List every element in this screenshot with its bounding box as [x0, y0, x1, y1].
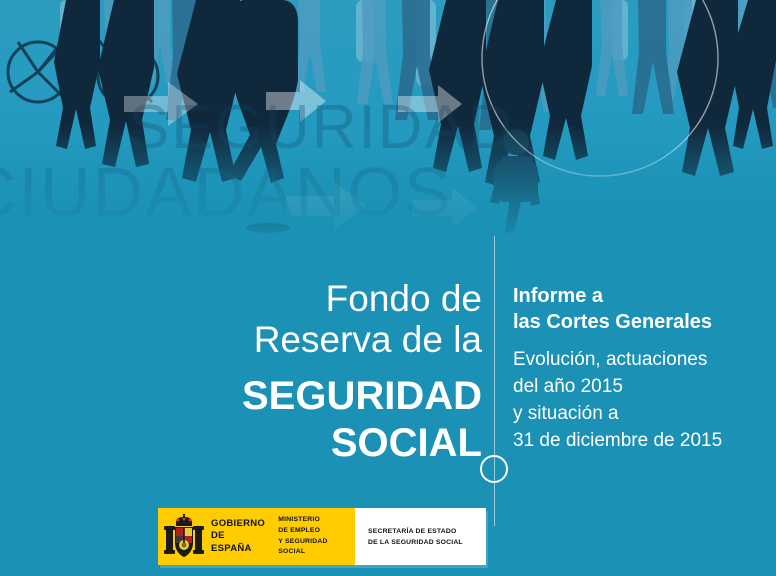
subtitle-body: Evolución, actuaciones del año 2015 y si… — [513, 347, 763, 455]
government-name-label: GOBIERNO DE ESPAÑA — [211, 518, 267, 554]
page-title-line1: Fondo de — [326, 278, 482, 319]
government-logo-block: GOBIERNO DE ESPAÑA MINISTERIO DE EMPLEO … — [158, 508, 355, 565]
cover-title-block: Fondo deReserva de la SEGURIDADSOCIAL — [180, 278, 482, 467]
page-title-emphasis: SEGURIDADSOCIAL — [180, 373, 482, 467]
cover-banner-photo: SEGURIDAD CIUDADANOS — [0, 0, 776, 245]
secretariat-logo-block: SECRETARÍA DE ESTADO DE LA SEGURIDAD SOC… — [355, 508, 486, 565]
page-title-light: Fondo deReserva de la — [180, 278, 482, 361]
secretariat-name-label: SECRETARÍA DE ESTADO DE LA SEGURIDAD SOC… — [368, 526, 463, 548]
pedestrians-silhouette-illustration — [0, 0, 776, 245]
cover-subtitle-block: Informe a las Cortes Generales Evolución… — [513, 283, 763, 455]
page-title-emphasis-line2: SOCIAL — [331, 421, 482, 465]
subtitle-heading: Informe a las Cortes Generales — [513, 283, 763, 335]
page-title-emphasis-line1: SEGURIDAD — [242, 374, 482, 418]
document-cover: SEGURIDAD CIUDADANOS Fondo deReserva de … — [0, 0, 776, 576]
ministry-name-label: MINISTERIO DE EMPLEO Y SEGURIDAD SOCIAL — [278, 515, 355, 557]
footer-logo-bar: GOBIERNO DE ESPAÑA MINISTERIO DE EMPLEO … — [158, 508, 486, 565]
page-title-line2: Reserva de la — [254, 319, 482, 360]
spain-coat-of-arms-icon — [164, 514, 204, 560]
divider-circle-marker — [480, 455, 508, 483]
